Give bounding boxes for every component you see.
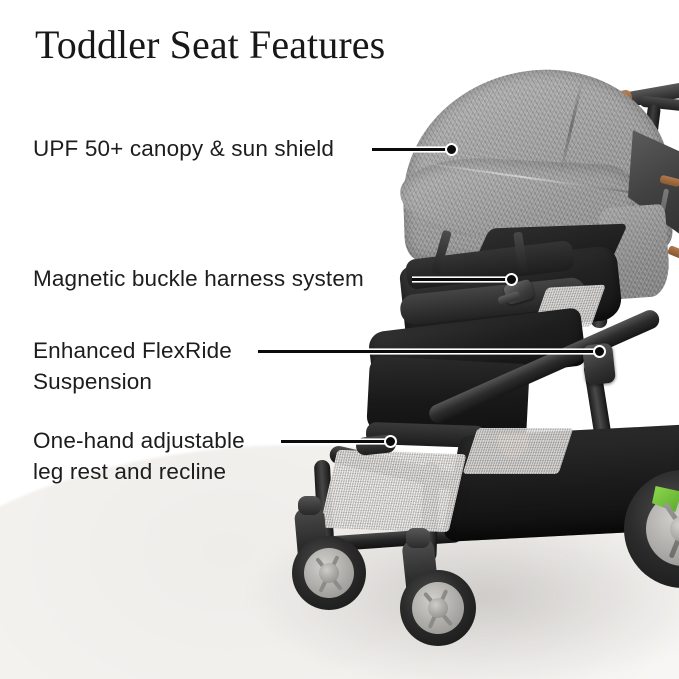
- canopy-leather-pull: [667, 245, 679, 260]
- leader-endpoint-dot: [593, 345, 606, 358]
- product-feature-infographic: Toddler Seat Features UPF 50+ canopy & s…: [0, 0, 679, 679]
- callout-label-harness: Magnetic buckle harness system: [33, 263, 364, 294]
- leader-endpoint-dot: [445, 143, 458, 156]
- leader-endpoint-dot: [505, 273, 518, 286]
- leader-line-legrest: [281, 435, 395, 449]
- basket-mesh-panel: [320, 450, 467, 532]
- callout-label-canopy: UPF 50+ canopy & sun shield: [33, 133, 334, 164]
- leader-line-flexride: [258, 345, 604, 359]
- front-wheel-right-cap: [428, 598, 448, 618]
- leader-line-stroke: [372, 148, 456, 151]
- basket-mesh-upper: [463, 428, 574, 474]
- callout-label-legrest: One-hand adjustable leg rest and recline: [33, 425, 245, 487]
- leader-line-stroke: [412, 278, 516, 281]
- front-wheel-right-swivel: [406, 528, 430, 548]
- leader-line-stroke: [281, 440, 395, 443]
- leader-line-canopy: [372, 143, 456, 157]
- page-title: Toddler Seat Features: [35, 20, 385, 70]
- leader-line-stroke: [258, 350, 604, 353]
- leader-endpoint-dot: [384, 435, 397, 448]
- leader-line-harness: [412, 273, 516, 287]
- front-wheel-left-cap: [319, 563, 339, 583]
- front-wheel-left-swivel: [298, 496, 321, 515]
- callout-label-flexride: Enhanced FlexRide Suspension: [33, 335, 232, 397]
